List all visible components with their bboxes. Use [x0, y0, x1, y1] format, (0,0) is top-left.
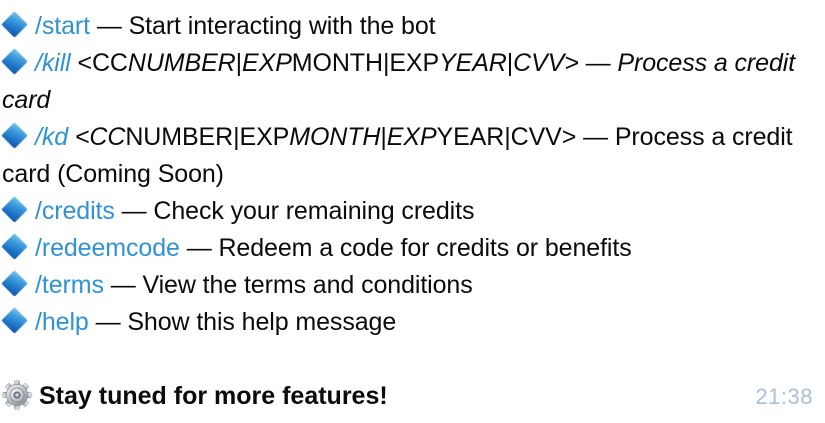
command-line: /credits — Check your remaining credits [0, 193, 825, 230]
command-description: Start interacting with the bot [129, 12, 436, 40]
command-arg-segment: <CC [77, 49, 127, 77]
command-description: Redeem a code for credits or benefits [218, 234, 631, 262]
separator-dash: — [111, 271, 136, 299]
blue-diamond-icon [2, 49, 29, 76]
gear-icon [2, 380, 32, 410]
command-description: View the terms and conditions [142, 271, 472, 299]
command-link-credits[interactable]: /credits [35, 197, 115, 225]
blue-diamond-icon [2, 271, 29, 298]
separator-dash: — [586, 49, 611, 77]
command-arg-segment: YEAR [437, 123, 505, 151]
command-arg-segment: NUMBER [128, 49, 236, 77]
separator-dash: — [583, 123, 608, 151]
command-arg-segment: <CC [75, 123, 125, 151]
command-arg-segment: EXP [242, 49, 292, 77]
separator-dash: — [97, 12, 122, 40]
separator-dash: — [96, 308, 121, 336]
command-line: /start — Start interacting with the bot [0, 8, 825, 45]
command-link-start[interactable]: /start [35, 12, 90, 40]
command-line: /redeemcode — Redeem a code for credits … [0, 230, 825, 267]
command-link-help[interactable]: /help [35, 308, 89, 336]
command-arg-segment: CVV> [513, 49, 579, 77]
command-line: /kd <CCNUMBER|EXPMONTH|EXPYEAR|CVV> — Pr… [0, 119, 825, 193]
command-arg-segment: YEAR [439, 49, 507, 77]
command-link-terms[interactable]: /terms [35, 271, 104, 299]
command-arg-segment: CVV> [511, 123, 577, 151]
footer-line: Stay tuned for more features! [0, 378, 825, 415]
blue-diamond-icon [2, 123, 29, 150]
footer-text: Stay tuned for more features! [39, 382, 388, 410]
command-description: Show this help message [127, 308, 396, 336]
separator-dash: — [122, 197, 147, 225]
command-link-kill[interactable]: /kill [35, 49, 71, 77]
message-timestamp: 21:38 [755, 384, 813, 410]
command-arg-segment: MONTH [292, 49, 383, 77]
blue-diamond-icon [2, 308, 29, 335]
separator-dash: — [187, 234, 212, 262]
command-arg-segment: NUMBER [125, 123, 233, 151]
command-link-kd[interactable]: /kd [35, 123, 68, 151]
blue-diamond-icon [2, 234, 29, 261]
command-arg-segment: EXP [240, 123, 290, 151]
command-line: /kill <CCNUMBER|EXPMONTH|EXPYEAR|CVV> — … [0, 45, 825, 119]
command-arg-segment: EXP [389, 49, 439, 77]
chat-message-bubble: /start — Start interacting with the bot … [0, 0, 825, 423]
command-arg-segment: MONTH [289, 123, 380, 151]
command-line: /terms — View the terms and conditions [0, 267, 825, 304]
command-line: /help — Show this help message [0, 304, 825, 341]
command-arg-segment: EXP [387, 123, 437, 151]
blue-diamond-icon [2, 197, 29, 224]
command-link-redeemcode[interactable]: /redeemcode [35, 234, 180, 262]
command-description: Check your remaining credits [153, 197, 474, 225]
blue-diamond-icon [2, 12, 29, 39]
